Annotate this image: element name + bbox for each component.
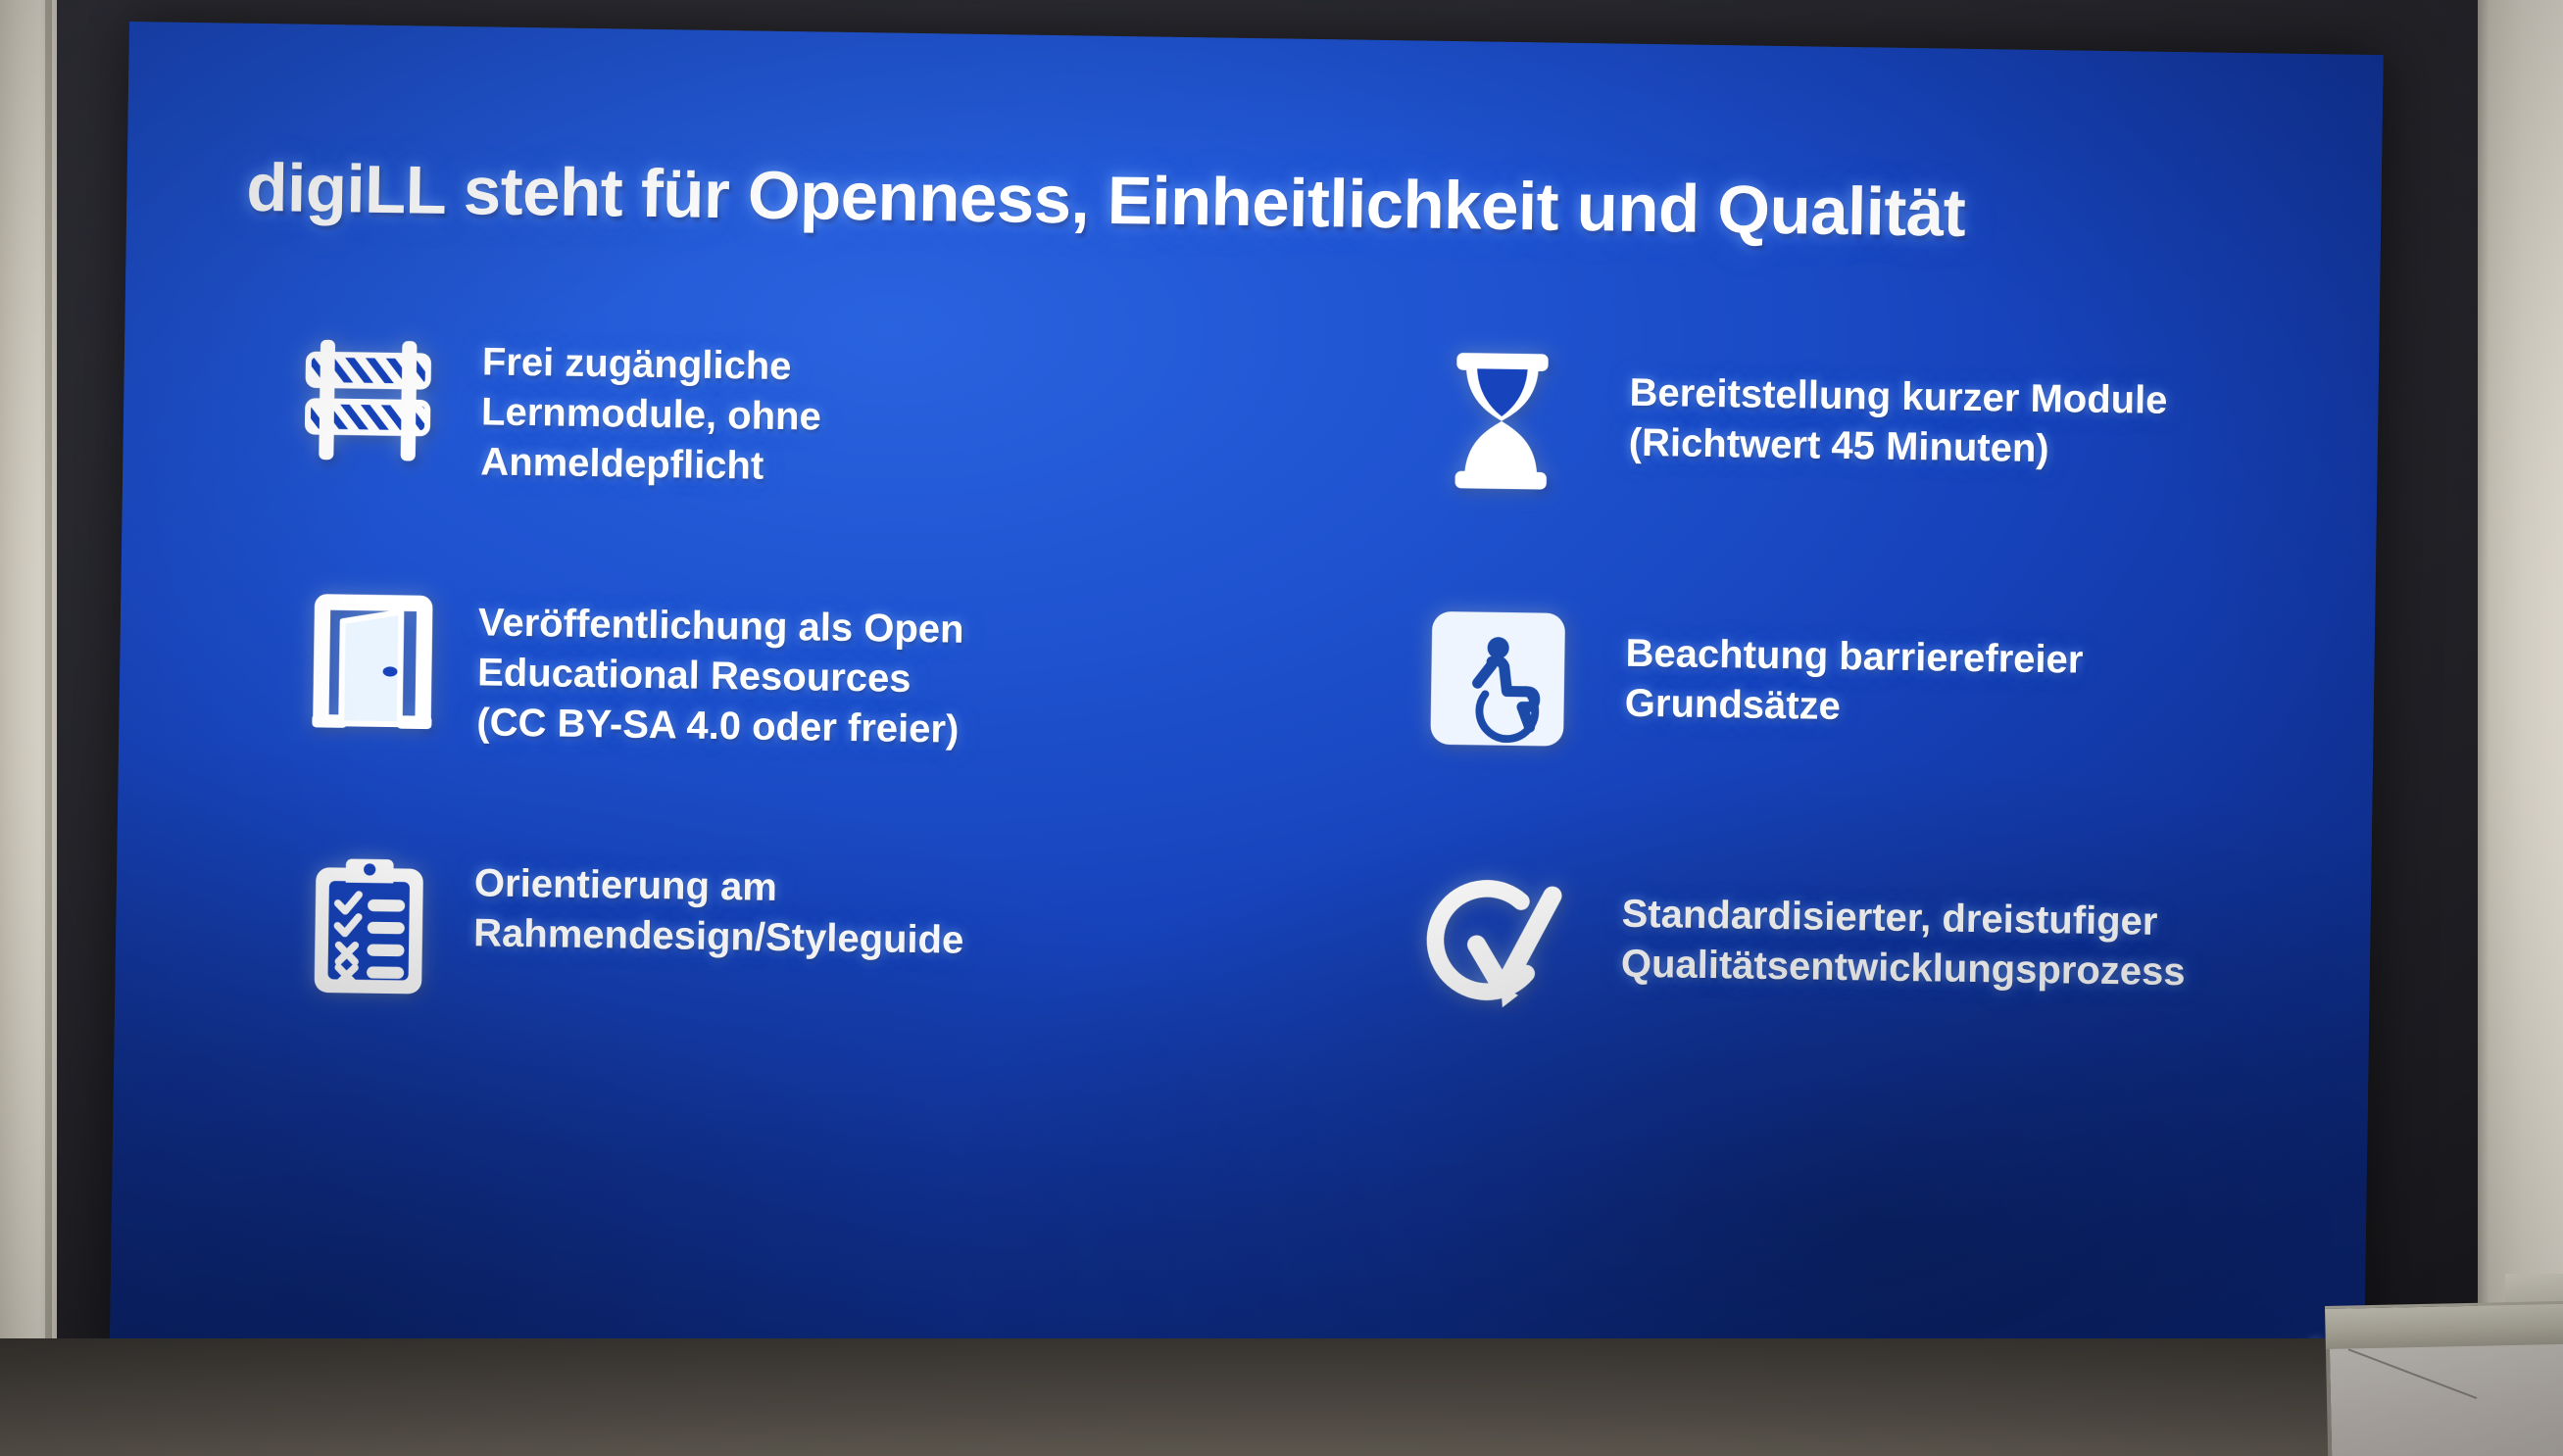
feature-text: Veröffentlichung als Open Educational Re…: [476, 586, 1232, 759]
wall-right: [2473, 0, 2563, 1456]
slide-canvas: digiLL steht für Openness, Einheitlichke…: [110, 22, 2384, 1397]
feature-line: Anmeldepflicht: [480, 438, 1235, 500]
feature-item: Orientierung am Rahmendesign/Styleguide: [261, 844, 1229, 1119]
feature-item: Bereitstellung kurzer Module (Richtwert …: [1371, 339, 2300, 613]
feature-line: Rahmendesign/Styleguide: [473, 909, 1228, 971]
feature-item: Frei zugängliche Lernmodule, ohne Anmeld…: [269, 322, 1237, 598]
flipchart-board: [2325, 1299, 2563, 1456]
feature-item: Veröffentlichung als Open Educational Re…: [265, 583, 1233, 858]
feature-text: Frei zugängliche Lernmodule, ohne Anmeld…: [480, 325, 1236, 499]
feature-column-right: Bereitstellung kurzer Module (Richtwert …: [1286, 338, 2301, 1135]
projected-slide: digiLL steht für Openness, Einheitlichke…: [110, 22, 2384, 1397]
feature-line: Qualitätsentwicklungsprozess: [1621, 940, 2292, 999]
road-barrier-icon: [269, 322, 482, 521]
clipboard-checklist-icon: [262, 844, 475, 1043]
wall-bottom: [0, 1338, 2563, 1456]
hourglass-icon: [1372, 339, 1630, 539]
feature-line: (Richtwert 45 Minuten): [1628, 418, 2299, 478]
feature-text: Bereitstellung kurzer Module (Richtwert …: [1628, 343, 2300, 479]
page-title: digiLL steht für Openness, Einheitlichke…: [246, 149, 2276, 257]
feature-item: Beachtung barrierefreier Grundsätze: [1367, 600, 2296, 874]
flipchart-paper: [2326, 1342, 2563, 1456]
feature-line: Grundsätze: [1624, 679, 2295, 739]
feature-line: (CC BY-SA 4.0 oder freier): [476, 699, 1231, 760]
feature-columns: Frei zugängliche Lernmodule, ohne Anmeld…: [222, 322, 2300, 1078]
feature-text: Orientierung am Rahmendesign/Styleguide: [473, 847, 1229, 970]
feature-text: Beachtung barrierefreier Grundsätze: [1624, 604, 2296, 740]
wall-left-edge: [45, 0, 52, 1456]
feature-text: Standardisierter, dreistufiger Qualitäts…: [1621, 864, 2293, 1000]
open-door-icon: [266, 583, 479, 782]
circular-arrow-check-icon: [1364, 860, 1622, 1060]
photo-scene: digiLL steht für Openness, Einheitlichke…: [0, 0, 2563, 1456]
wheelchair-accessibility-icon: [1368, 600, 1626, 800]
flipchart-top-rail: [2325, 1299, 2563, 1351]
feature-item: Standardisierter, dreistufiger Qualitäts…: [1363, 860, 2292, 1135]
feature-column-left: Frei zugängliche Lernmodule, ohne Anmeld…: [222, 322, 1237, 1119]
